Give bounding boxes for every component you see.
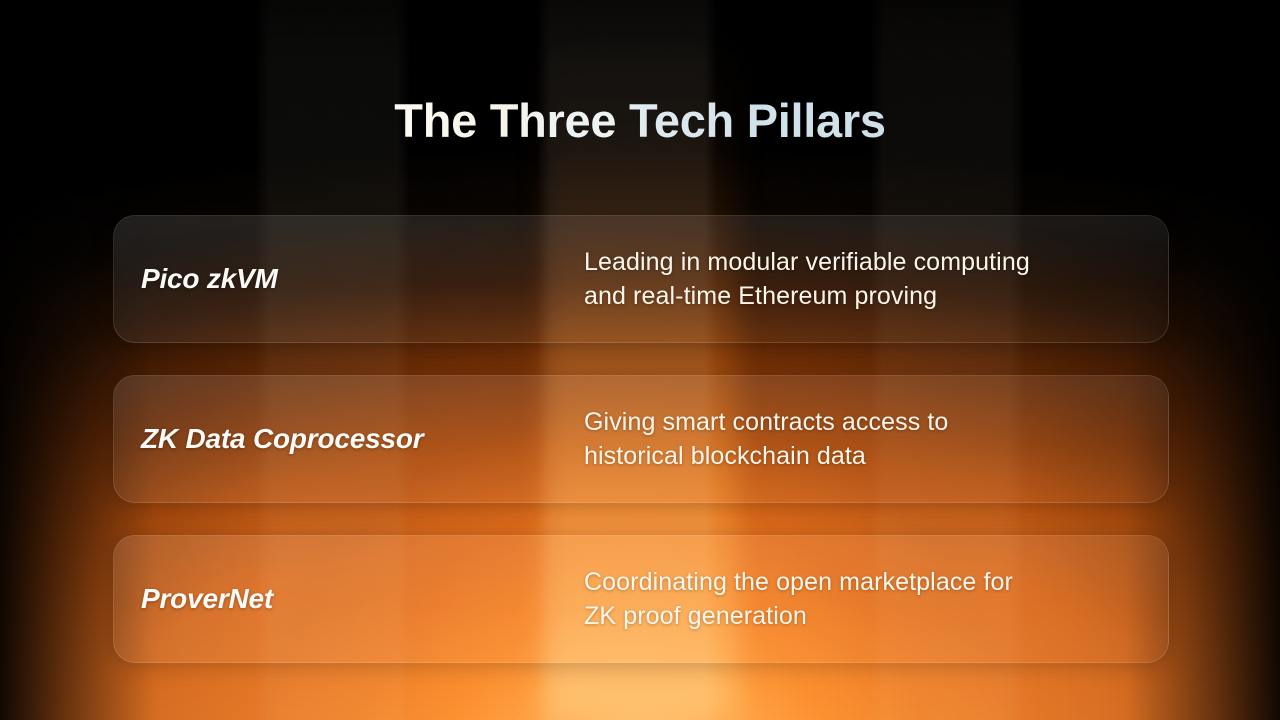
pillar-name: ZK Data Coprocessor	[114, 423, 584, 455]
pillar-name: Pico zkVM	[114, 263, 584, 295]
pillar-description-line-2: historical blockchain data	[584, 439, 1142, 474]
pillar-card-provernet[interactable]: ProverNet Coordinating the open marketpl…	[113, 535, 1169, 663]
pillar-description-line-1: Coordinating the open marketplace for	[584, 565, 1142, 600]
pillar-card-zk-data-coprocessor[interactable]: ZK Data Coprocessor Giving smart contrac…	[113, 375, 1169, 503]
pillar-card-pico-zkvm[interactable]: Pico zkVM Leading in modular verifiable …	[113, 215, 1169, 343]
pillar-name: ProverNet	[114, 583, 584, 615]
pillar-description-line-1: Leading in modular verifiable computing	[584, 245, 1142, 280]
pillar-description-line-2: ZK proof generation	[584, 599, 1142, 634]
page-title-segment-accent: Tech Pillars	[629, 94, 886, 147]
pillar-description: Leading in modular verifiable computing …	[584, 245, 1168, 314]
page-title: The Three Tech Pillars	[0, 96, 1280, 147]
pillar-description-line-2: and real-time Ethereum proving	[584, 279, 1142, 314]
pillar-description: Giving smart contracts access to histori…	[584, 405, 1168, 474]
pillar-description: Coordinating the open marketplace for ZK…	[584, 565, 1168, 634]
slide-canvas: The Three Tech Pillars Pico zkVM Leading…	[0, 0, 1280, 720]
pillar-description-line-1: Giving smart contracts access to	[584, 405, 1142, 440]
page-title-segment-light: The Three	[394, 94, 629, 147]
pillar-card-list: Pico zkVM Leading in modular verifiable …	[113, 215, 1169, 663]
